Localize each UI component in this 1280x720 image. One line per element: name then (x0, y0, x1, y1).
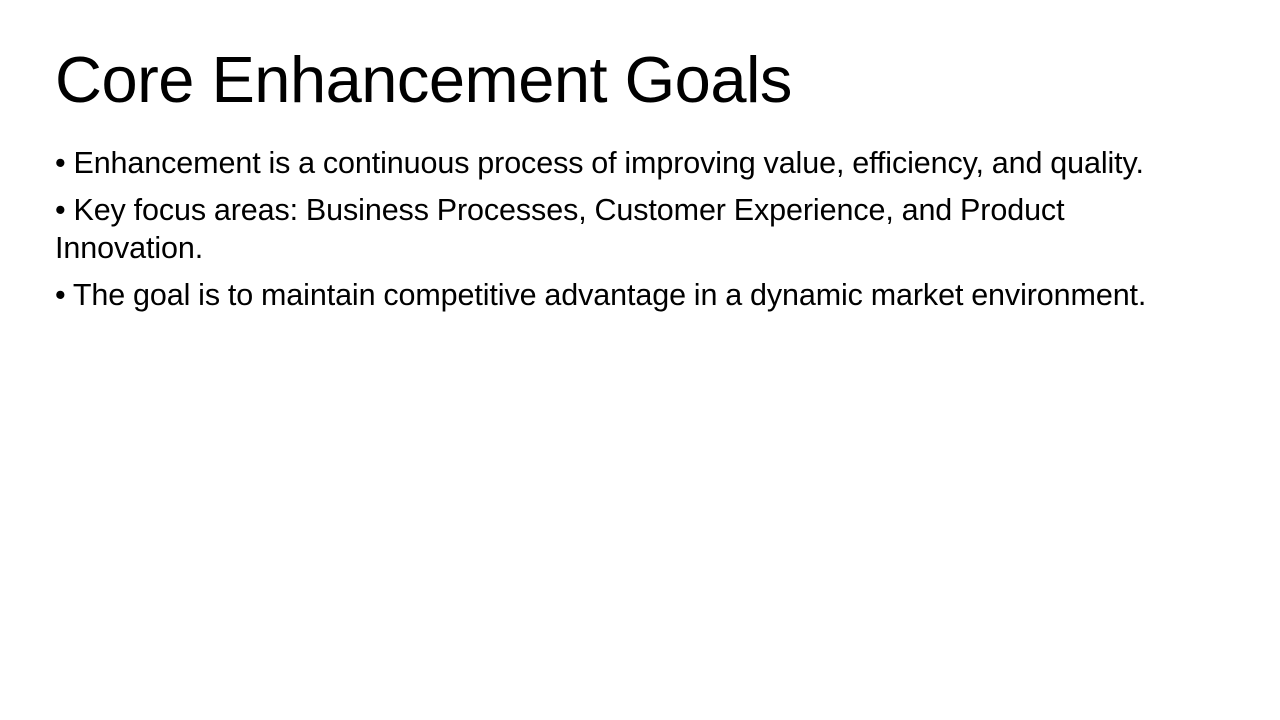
slide-body-text: • Enhancement is a continuous process of… (55, 144, 1190, 314)
bullet-marker-icon: • (55, 193, 66, 227)
bullet-marker-icon: • (55, 278, 66, 312)
bullet-text: The goal is to maintain competitive adva… (73, 278, 1146, 312)
bullet-paragraph: • The goal is to maintain competitive ad… (55, 276, 1190, 315)
slide-canvas: Core Enhancement Goals • Enhancement is … (0, 0, 1280, 720)
bullet-text: Enhancement is a continuous process of i… (73, 146, 1143, 180)
bullet-text: Key focus areas: Business Processes, Cus… (55, 193, 1064, 266)
page-title: Core Enhancement Goals (55, 47, 1225, 112)
bullet-marker-icon: • (55, 146, 66, 180)
bullet-paragraph: • Key focus areas: Business Processes, C… (55, 191, 1190, 268)
bullet-paragraph: • Enhancement is a continuous process of… (55, 144, 1190, 183)
